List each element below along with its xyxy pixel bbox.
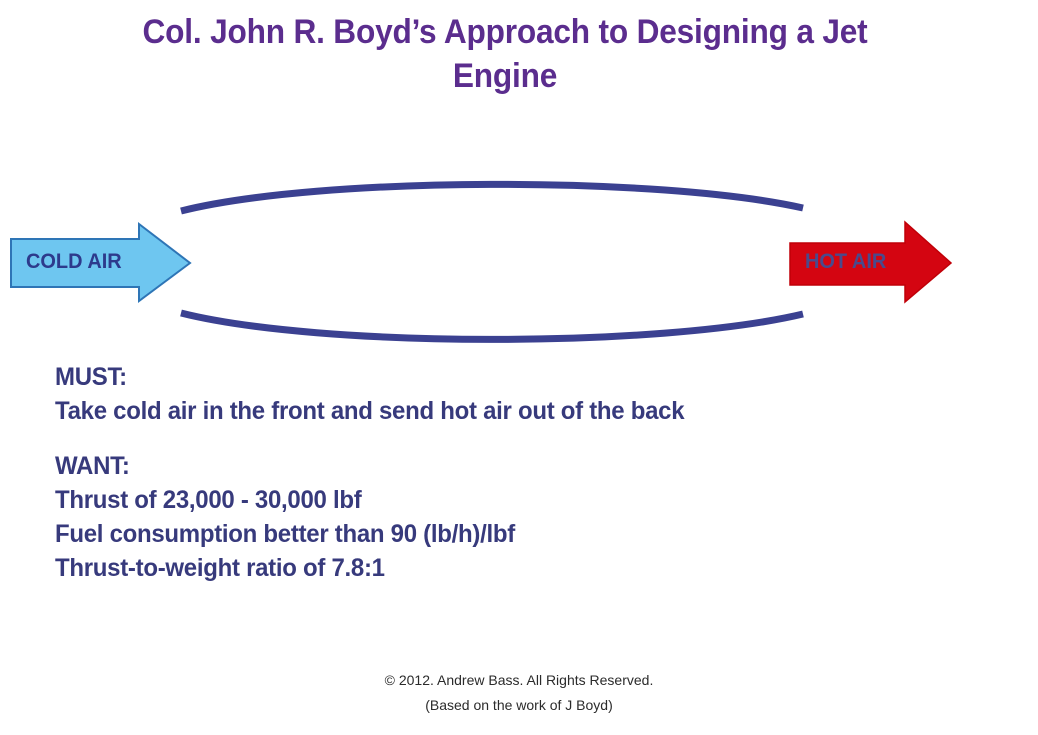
must-heading: MUST: (55, 360, 919, 394)
cold-air-label: COLD AIR (26, 250, 122, 274)
section-spacer (55, 428, 955, 449)
attribution-text: (Based on the work of J Boyd) (0, 693, 1038, 718)
want-line-1: Thrust of 23,000 - 30,000 lbf (55, 483, 919, 517)
page-title: Col. John R. Boyd’s Approach to Designin… (73, 10, 938, 98)
slide-canvas: Col. John R. Boyd’s Approach to Designin… (0, 0, 1038, 735)
must-line-1: Take cold air in the front and send hot … (55, 394, 919, 428)
copyright-text: © 2012. Andrew Bass. All Rights Reserved… (0, 668, 1038, 693)
requirements-block: MUST: Take cold air in the front and sen… (55, 360, 955, 585)
engine-top-curve (181, 184, 803, 211)
want-line-2: Fuel consumption better than 90 (lb/h)/l… (55, 517, 919, 551)
want-heading: WANT: (55, 449, 919, 483)
footer: © 2012. Andrew Bass. All Rights Reserved… (0, 668, 1038, 718)
hot-air-label: HOT AIR (805, 250, 886, 274)
want-line-3: Thrust-to-weight ratio of 7.8:1 (55, 551, 919, 585)
engine-bottom-curve (181, 313, 803, 339)
